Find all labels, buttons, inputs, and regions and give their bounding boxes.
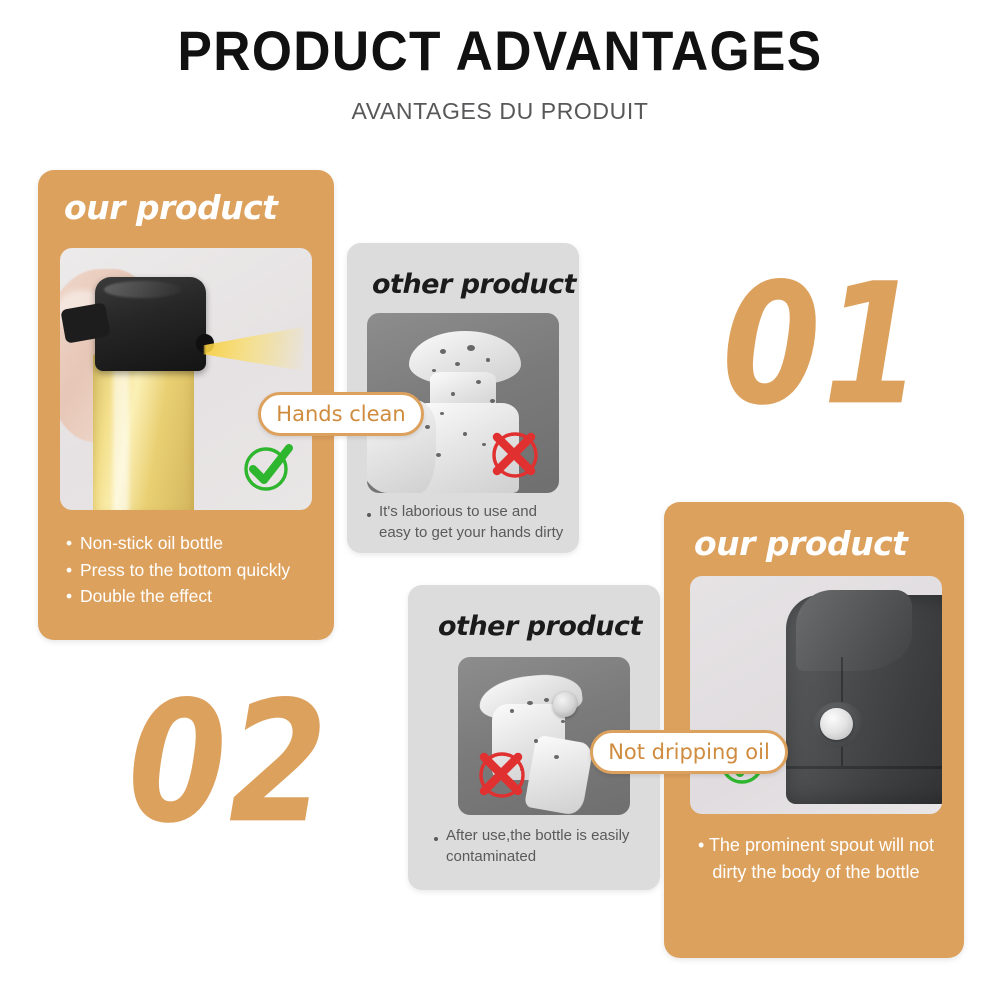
oil-speck: [440, 412, 444, 415]
check-mark-icon: [238, 438, 296, 496]
bullet-text: Press to the bottom quickly: [80, 560, 290, 580]
oil-speck: [510, 709, 514, 713]
other-product-caption-1: It's laborious to use and easy to get yo…: [379, 501, 574, 544]
caption-line: contaminated: [446, 846, 656, 867]
section-number-01: 01: [722, 262, 924, 430]
oil-spray-mist: [204, 327, 305, 372]
bottle-band-line: [786, 766, 942, 769]
oil-speck: [534, 739, 538, 743]
page-title: PRODUCT ADVANTAGES: [40, 20, 960, 82]
bottle-lid-shape: [796, 590, 912, 671]
not-dripping-oil-badge: Not dripping oil: [590, 730, 788, 774]
bullet-dot: •: [66, 557, 80, 584]
bullet-row: •Double the effect: [66, 583, 290, 610]
other-product-title-2: other product: [438, 611, 642, 642]
caption-line: easy to get your hands dirty: [379, 522, 574, 543]
bullet-row: •Press to the bottom quickly: [66, 557, 290, 584]
caption-line: dirty the body of the bottle: [678, 859, 954, 886]
sprayer-cap-shape: [95, 277, 206, 371]
dispenser-arm-shape: [524, 735, 594, 815]
caption-line: • The prominent spout will not: [678, 832, 954, 859]
spout-nozzle-shape: [820, 708, 853, 740]
cross-mark-icon: [485, 425, 543, 483]
page-header: PRODUCT ADVANTAGES AVANTAGES DU PRODUIT: [0, 0, 1000, 125]
caption-bullet-dot: [434, 837, 438, 841]
bullet-row: •Non-stick oil bottle: [66, 530, 290, 557]
our-product-title-2: our product: [694, 524, 907, 563]
our-product-title-1: our product: [64, 188, 277, 227]
sprayer-trigger-shape: [60, 302, 110, 343]
bullet-text: Non-stick oil bottle: [80, 533, 223, 553]
other-product-caption-2: After use,the bottle is easily contamina…: [446, 825, 656, 868]
our-product-photo-1: [60, 248, 312, 510]
caption-line: After use,the bottle is easily: [446, 825, 656, 846]
hands-clean-badge: Hands clean: [258, 392, 424, 436]
other-product-title-1: other product: [372, 269, 576, 300]
bullet-dot: •: [66, 583, 80, 610]
oil-bottle-shape: [93, 353, 194, 510]
oil-speck: [455, 362, 460, 366]
oil-speck: [425, 425, 430, 429]
section-number-02: 02: [128, 680, 330, 848]
dispenser-knob-shape: [553, 692, 577, 717]
our-product-bullets-1: •Non-stick oil bottle •Press to the bott…: [66, 530, 290, 610]
oil-speck: [463, 432, 467, 436]
bullet-dot: •: [66, 530, 80, 557]
caption-line: It's laborious to use and: [379, 501, 574, 522]
oil-speck: [486, 358, 490, 362]
caption-bullet-dot: [367, 513, 371, 517]
bullet-text: Double the effect: [80, 586, 212, 606]
page-subtitle: AVANTAGES DU PRODUIT: [0, 98, 1000, 125]
cross-mark-icon: [472, 745, 530, 803]
our-product-caption-2: • The prominent spout will not dirty the…: [678, 832, 954, 886]
oil-speck: [440, 349, 446, 354]
our-product-photo-2: [690, 576, 942, 814]
